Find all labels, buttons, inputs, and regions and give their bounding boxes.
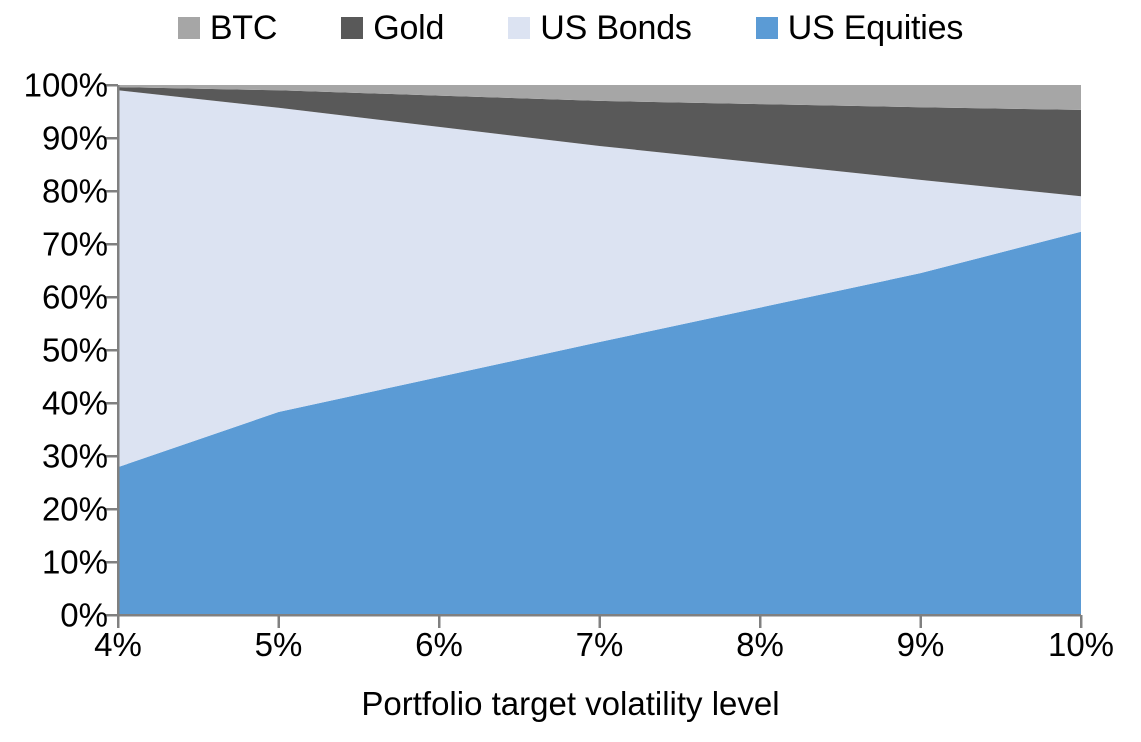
x-axis-tick-label: 4% — [94, 628, 142, 661]
stacked-area-chart: BTC Gold US Bonds US Equities 0%10%20%30… — [0, 0, 1141, 742]
x-axis-tick-label: 7% — [576, 628, 624, 661]
x-axis-title: Portfolio target volatility level — [0, 687, 1141, 720]
x-axis-tick-labels: 4%5%6%7%8%9%10% — [0, 0, 1141, 742]
x-axis-tick-label: 8% — [736, 628, 784, 661]
x-axis-tick-label: 10% — [1048, 628, 1114, 661]
x-axis-tick-label: 5% — [255, 628, 303, 661]
x-axis-tick-label: 9% — [897, 628, 945, 661]
x-axis-tick-label: 6% — [415, 628, 463, 661]
